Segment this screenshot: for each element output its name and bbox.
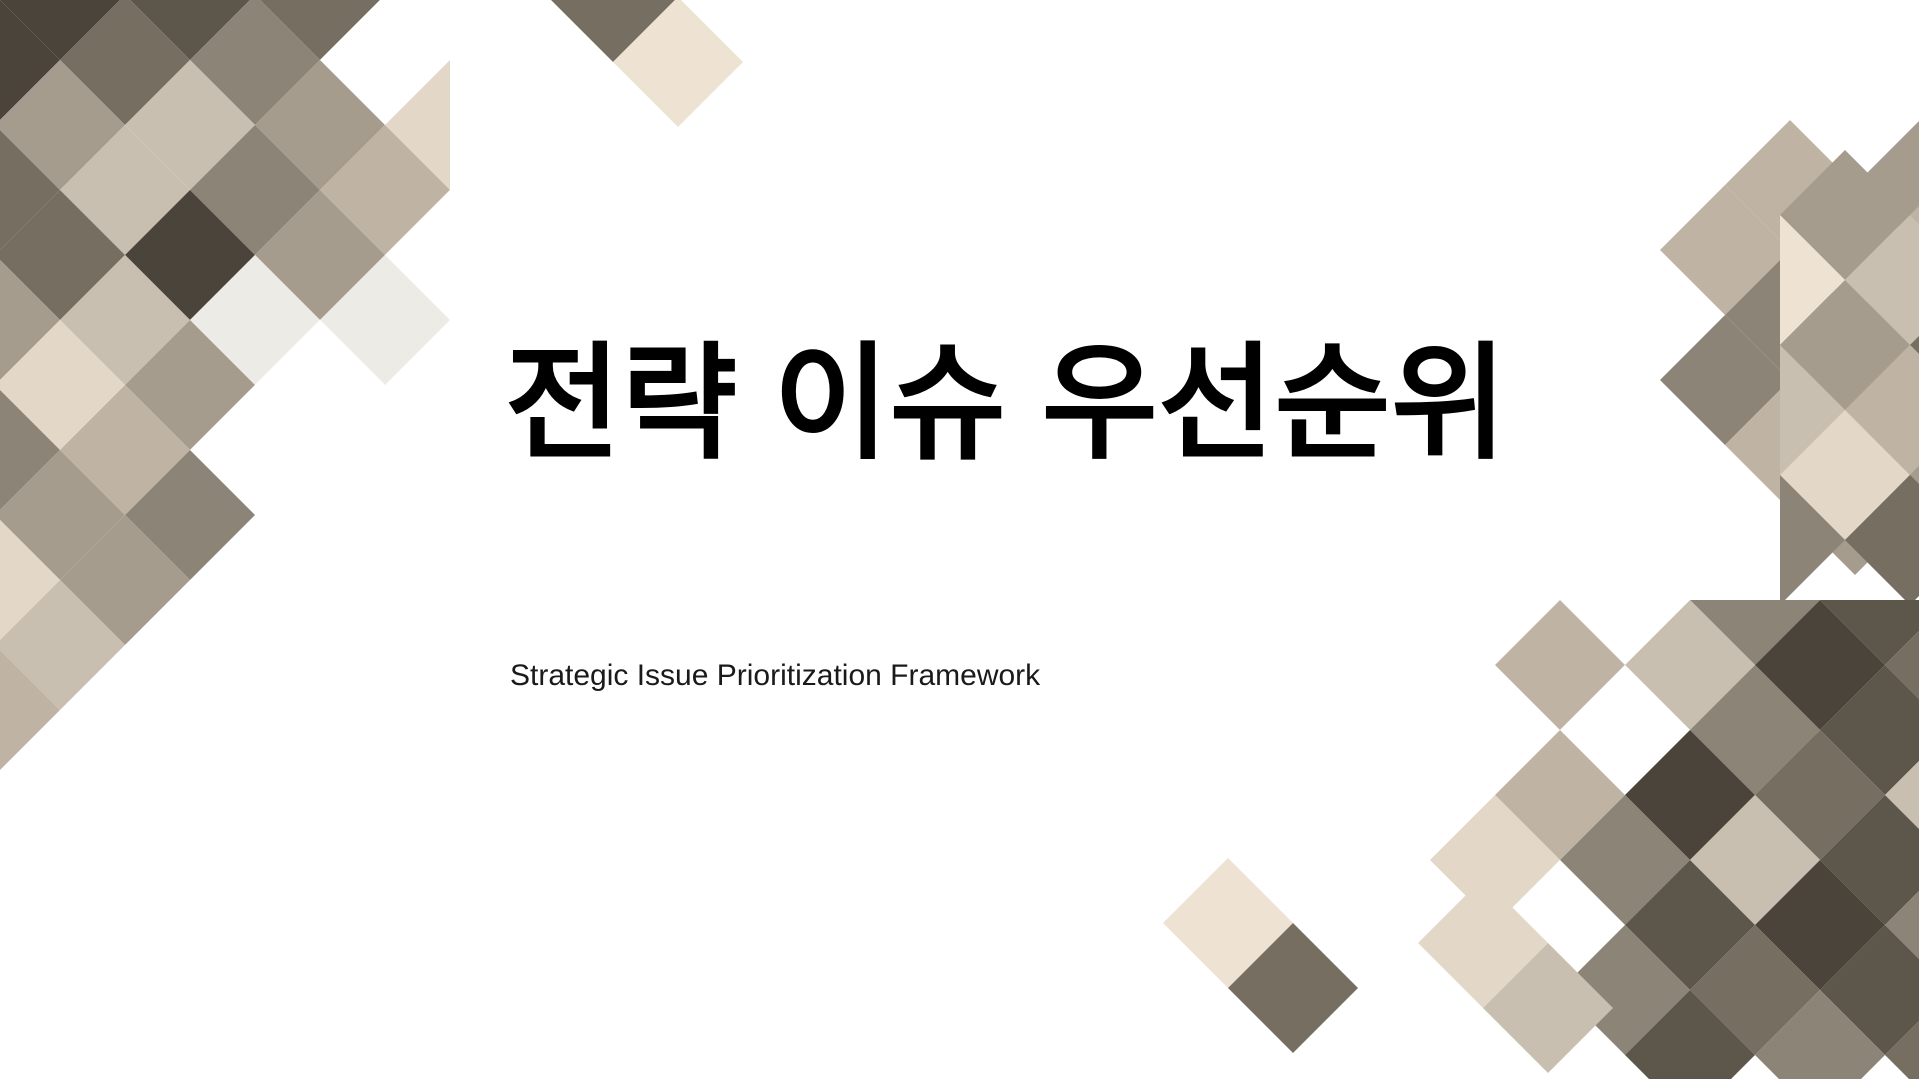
decorative-diamond-pair-bottom-center bbox=[1163, 858, 1383, 1079]
decorative-diamond-pair-top-center bbox=[548, 0, 768, 162]
decorative-diamond-mosaic-top-left bbox=[0, 0, 450, 790]
decorative-diamond-mosaic-right-upper bbox=[1660, 120, 1919, 680]
title-placeholder: 전략 이슈 우선순위 bbox=[505, 330, 1515, 479]
title-slide: 전략 이슈 우선순위 Strategic Issue Prioritizatio… bbox=[0, 0, 1919, 1079]
page-subtitle: Strategic Issue Prioritization Framework bbox=[510, 658, 1410, 694]
decorative-diamond-mosaic-right-middle bbox=[1780, 150, 1919, 770]
page-title: 전략 이슈 우선순위 bbox=[505, 330, 1515, 479]
decorative-diamond-cluster-bottom-mid-right bbox=[1418, 878, 1648, 1079]
subtitle-placeholder: Strategic Issue Prioritization Framework bbox=[510, 658, 1410, 694]
decorative-diamond-mosaic-bottom-right bbox=[1430, 600, 1919, 1079]
